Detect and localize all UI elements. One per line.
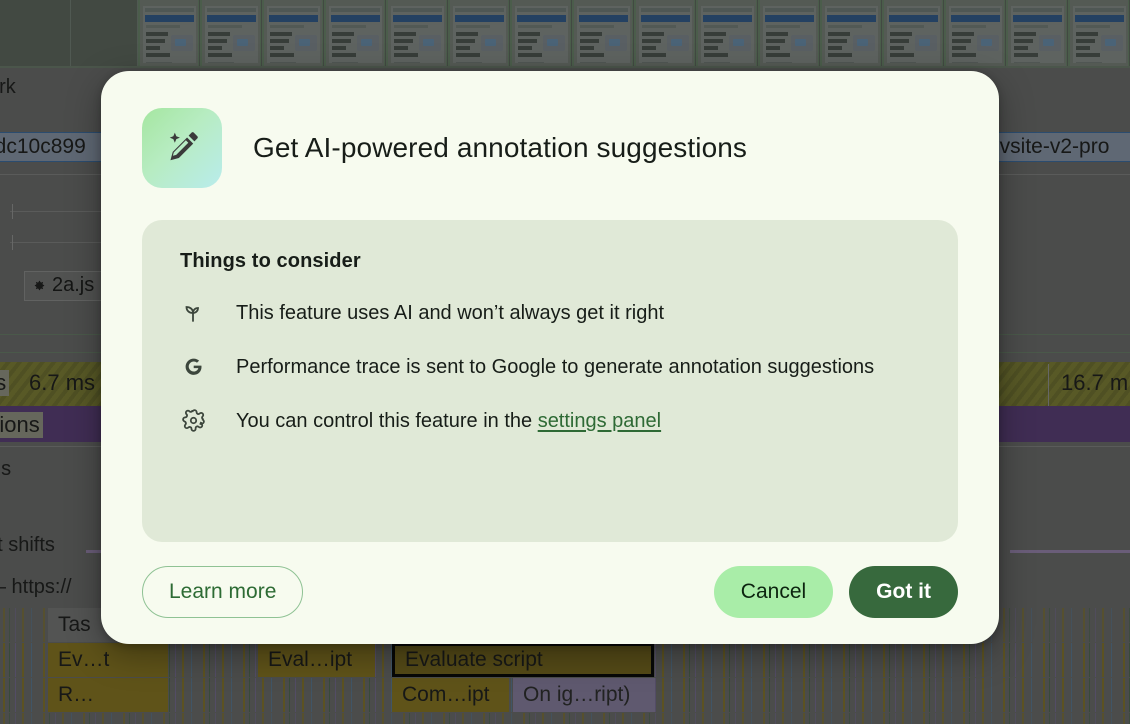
ai-annotation-dialog: Get AI-powered annotation suggestions Th… [101, 71, 999, 644]
devtools-performance-screen: ork s 5dc10c899 evsite-v2-pro 2a.js [0, 0, 1130, 724]
dialog-title: Get AI-powered annotation suggestions [253, 132, 747, 164]
consider-item-text: This feature uses AI and won’t always ge… [236, 297, 664, 329]
got-it-button[interactable]: Got it [849, 566, 958, 618]
learn-more-button[interactable]: Learn more [142, 566, 303, 618]
google-g-icon [180, 353, 206, 379]
consider-item: You can control this feature in the sett… [180, 405, 924, 437]
consider-item: Performance trace is sent to Google to g… [180, 351, 924, 383]
dialog-actions: Learn more Cancel Got it [142, 542, 958, 644]
dialog-header: Get AI-powered annotation suggestions [142, 108, 958, 188]
sprout-icon [180, 299, 206, 325]
settings-panel-link[interactable]: settings panel [538, 410, 661, 432]
consider-item-text: You can control this feature in the sett… [236, 405, 661, 437]
things-to-consider-card: Things to consider This feature uses AI … [142, 220, 958, 542]
things-to-consider-heading: Things to consider [180, 250, 924, 273]
primary-actions: Cancel Got it [714, 566, 958, 618]
consider-item-text: Performance trace is sent to Google to g… [236, 351, 874, 383]
ai-pencil-sparkle-icon [142, 108, 222, 188]
gear-icon [180, 407, 206, 433]
cancel-button[interactable]: Cancel [714, 566, 833, 618]
consider-list: This feature uses AI and won’t always ge… [180, 297, 924, 437]
consider-item: This feature uses AI and won’t always ge… [180, 297, 924, 329]
